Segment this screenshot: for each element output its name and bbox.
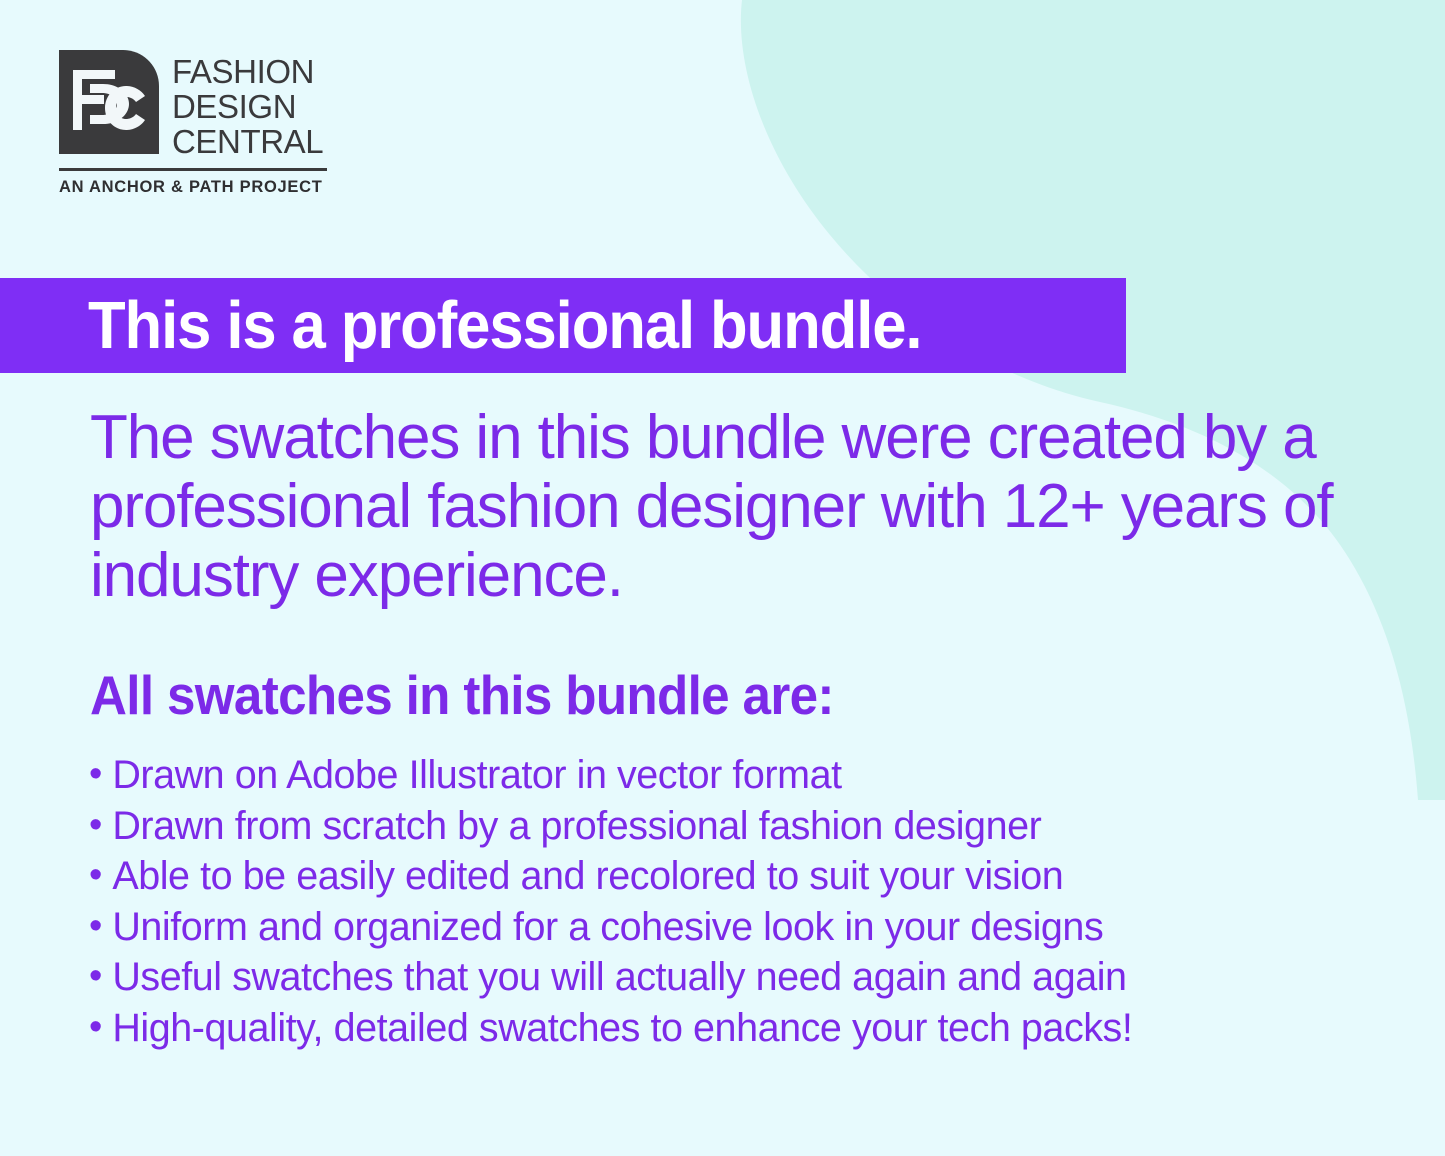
bullet-dot-icon: • bbox=[89, 957, 102, 995]
wordmark-line-1: FASHION bbox=[172, 54, 323, 89]
list-item-label: Able to be easily edited and recolored t… bbox=[112, 854, 1063, 898]
promo-slide: { "theme": { "background_color": "#e7faf… bbox=[0, 0, 1445, 1156]
brand-logo-lockup[interactable]: FASHION DESIGN CENTRAL AN ANCHOR & PATH … bbox=[59, 50, 327, 197]
list-item: • Uniform and organized for a cohesive l… bbox=[89, 905, 1409, 956]
benefits-list: • Drawn on Adobe Illustrator in vector f… bbox=[89, 753, 1409, 1056]
list-item: • Drawn from scratch by a professional f… bbox=[89, 804, 1409, 855]
list-item-label: High-quality, detailed swatches to enhan… bbox=[112, 1006, 1132, 1050]
list-item-label: Useful swatches that you will actually n… bbox=[112, 955, 1126, 999]
headline-banner: This is a professional bundle. bbox=[0, 278, 1126, 373]
list-item: • Drawn on Adobe Illustrator in vector f… bbox=[89, 753, 1409, 804]
benefits-heading: All swatches in this bundle are: bbox=[90, 666, 834, 724]
fdc-monogram-icon bbox=[59, 50, 159, 154]
list-item: • Useful swatches that you will actually… bbox=[89, 955, 1409, 1006]
list-item: • Able to be easily edited and recolored… bbox=[89, 854, 1409, 905]
list-item-label: Drawn on Adobe Illustrator in vector for… bbox=[112, 753, 841, 797]
wordmark-line-3: CENTRAL bbox=[172, 124, 323, 159]
intro-paragraph: The swatches in this bundle were created… bbox=[90, 403, 1390, 610]
bullet-dot-icon: • bbox=[89, 755, 102, 793]
bullet-dot-icon: • bbox=[89, 1008, 102, 1046]
page-title: This is a professional bundle. bbox=[88, 292, 921, 359]
list-item-label: Uniform and organized for a cohesive loo… bbox=[112, 905, 1103, 949]
list-item: • High-quality, detailed swatches to enh… bbox=[89, 1006, 1409, 1057]
bullet-dot-icon: • bbox=[89, 907, 102, 945]
mint-wave-shape bbox=[741, 0, 1445, 800]
wordmark-line-2: DESIGN bbox=[172, 89, 323, 124]
bullet-dot-icon: • bbox=[89, 806, 102, 844]
logo-tagline: AN ANCHOR & PATH PROJECT bbox=[59, 178, 327, 197]
list-item-label: Drawn from scratch by a professional fas… bbox=[112, 804, 1041, 848]
bullet-dot-icon: • bbox=[89, 856, 102, 894]
logo-divider bbox=[59, 168, 327, 171]
logo-top-row: FASHION DESIGN CENTRAL bbox=[59, 50, 327, 159]
logo-wordmark: FASHION DESIGN CENTRAL bbox=[172, 50, 323, 159]
